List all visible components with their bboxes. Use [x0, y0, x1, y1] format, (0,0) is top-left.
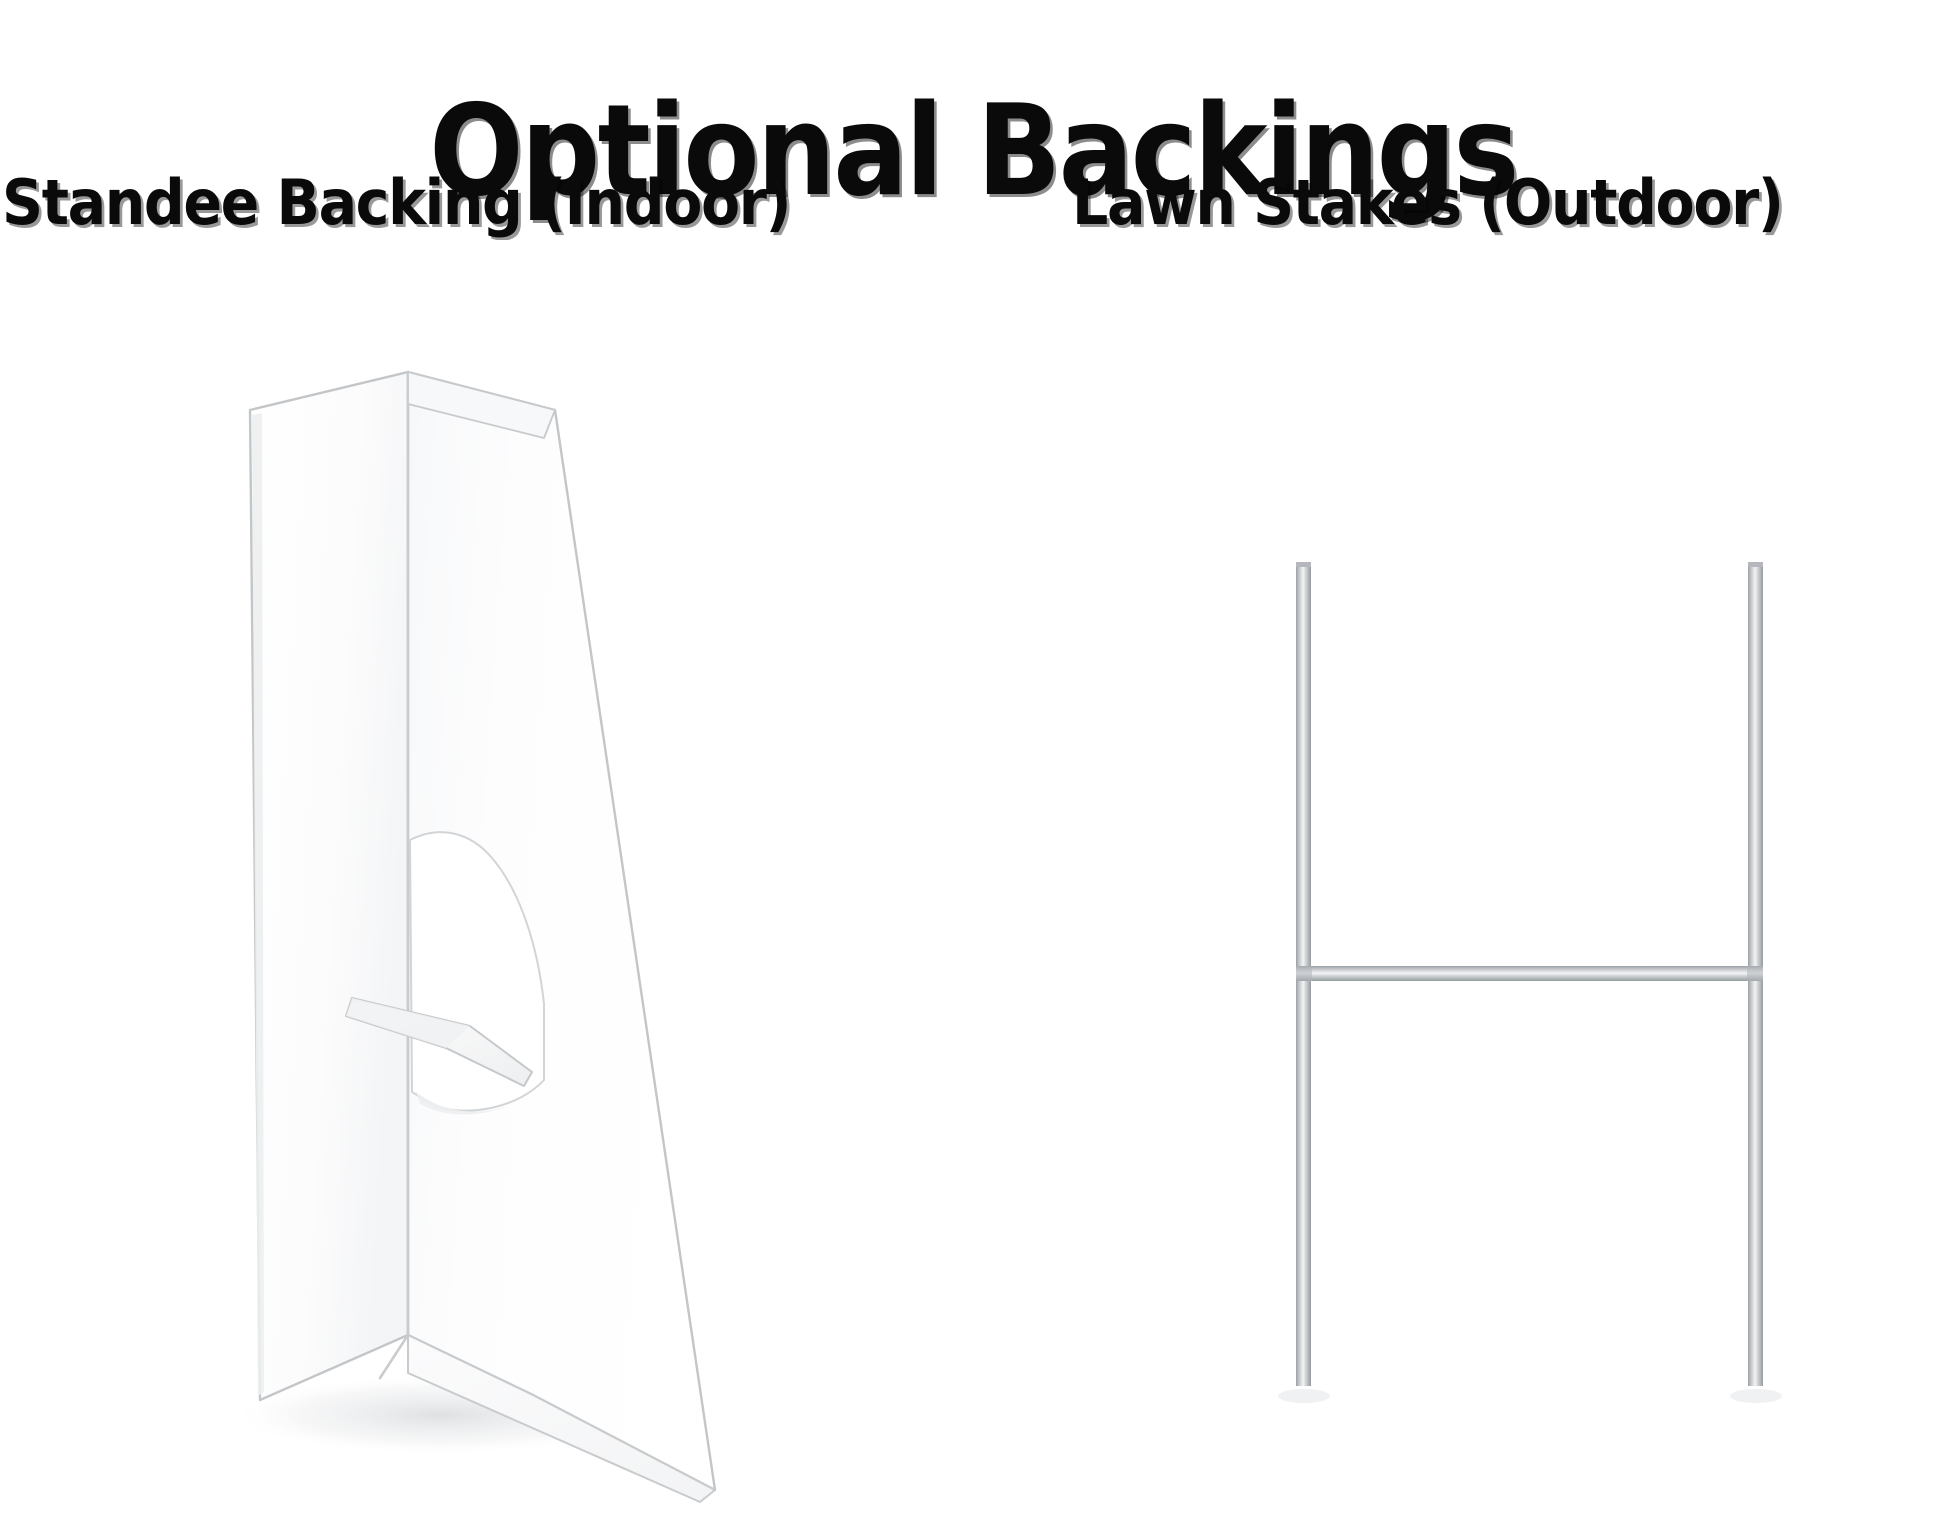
lawn-stakes-illustration — [1250, 530, 1830, 1430]
standee-backing-illustration — [140, 280, 780, 1528]
lawn-stake-left-leg-cap — [1296, 562, 1311, 567]
lawn-stake-right-tip-shadow — [1730, 1389, 1782, 1403]
page-root: Optional Backings Standee Backing (Indoo… — [0, 0, 1946, 1528]
lawn-stake-crossbar — [1296, 966, 1763, 981]
lawn-stake-right-leg-cap — [1748, 562, 1763, 567]
standee-section-label: Standee Backing (Indoor) — [2, 172, 790, 234]
lawn-stakes-section-label: Lawn Stakes (Outdoor) — [1072, 172, 1783, 234]
lawn-stake-left-joint — [1296, 966, 1312, 981]
lawn-stake-right-joint — [1747, 966, 1763, 981]
lawn-stake-left-tip-shadow — [1278, 1389, 1330, 1403]
standee-left-panel — [250, 372, 408, 1400]
